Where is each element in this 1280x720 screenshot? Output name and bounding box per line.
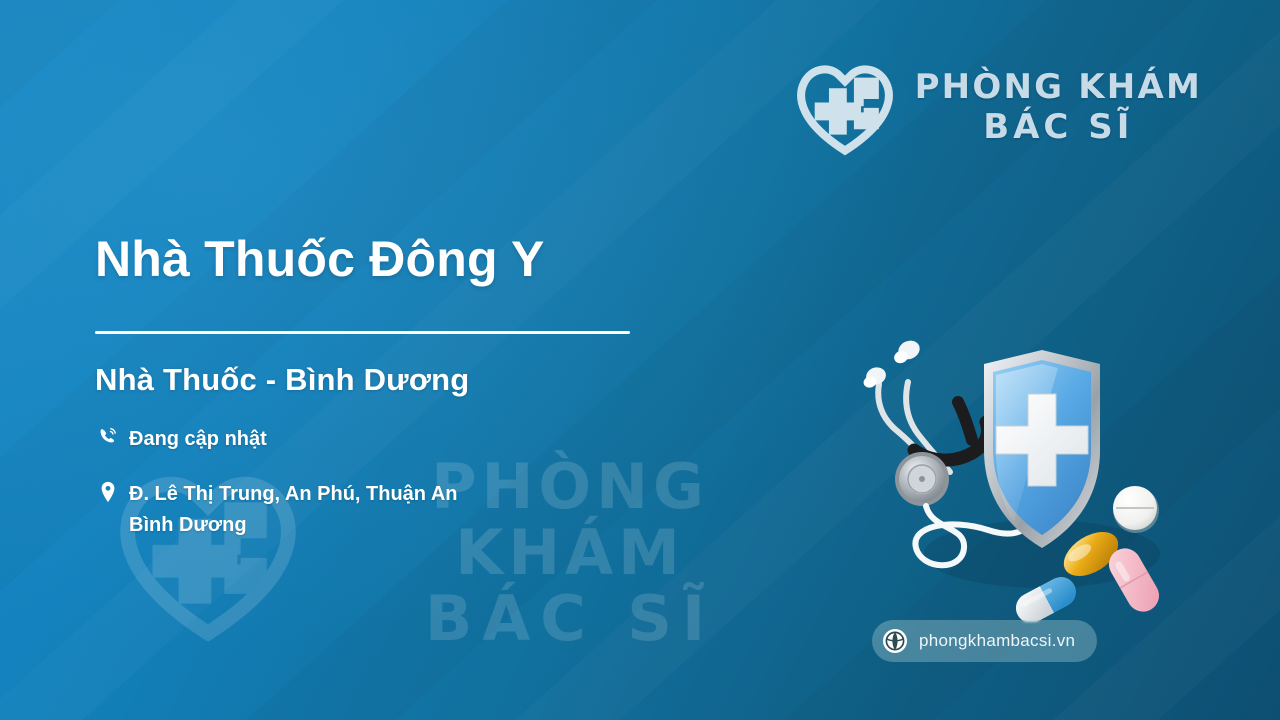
address-line-2: Bình Dương <box>129 510 458 541</box>
clinic-info-block: Nhà Thuốc Đông Y Nhà Thuốc - Bình Dương … <box>95 232 715 541</box>
brand-line-1: PHÒNG KHÁM <box>915 67 1202 107</box>
address-value: Đ. Lê Thị Trung, An Phú, Thuận An Bình D… <box>129 479 458 541</box>
page-title: Nhà Thuốc Đông Y <box>95 232 715 287</box>
clinic-banner: PHÒNG KHÁM BÁC SĨ PHÒNG KHÁM BÁC SĨ Nhà … <box>0 0 1280 720</box>
clinic-subtitle: Nhà Thuốc - Bình Dương <box>95 362 715 398</box>
website-badge[interactable]: phongkhambacsi.vn <box>872 620 1097 662</box>
medical-shield-icon <box>984 350 1100 548</box>
watermark-line-2: BÁC SĨ <box>310 586 830 652</box>
website-url: phongkhambacsi.vn <box>919 631 1075 651</box>
phone-ringing-icon <box>95 424 121 446</box>
brand-text: PHÒNG KHÁM BÁC SĨ <box>915 67 1202 147</box>
address-line-1: Đ. Lê Thị Trung, An Phú, Thuận An <box>129 479 458 510</box>
brand-line-2: BÁC SĨ <box>915 107 1202 147</box>
heart-cross-medical-icon <box>791 58 899 156</box>
brand-logo: PHÒNG KHÁM BÁC SĨ <box>791 58 1202 156</box>
phone-row: Đang cập nhật <box>95 424 715 455</box>
map-pin-icon <box>95 479 121 503</box>
title-divider <box>95 331 630 334</box>
address-row: Đ. Lê Thị Trung, An Phú, Thuận An Bình D… <box>95 479 715 541</box>
white-round-tablet <box>1113 486 1159 533</box>
stethoscope-shield-pills-illustration <box>846 322 1186 622</box>
globe-icon <box>882 628 908 654</box>
phone-value: Đang cập nhật <box>129 424 267 455</box>
